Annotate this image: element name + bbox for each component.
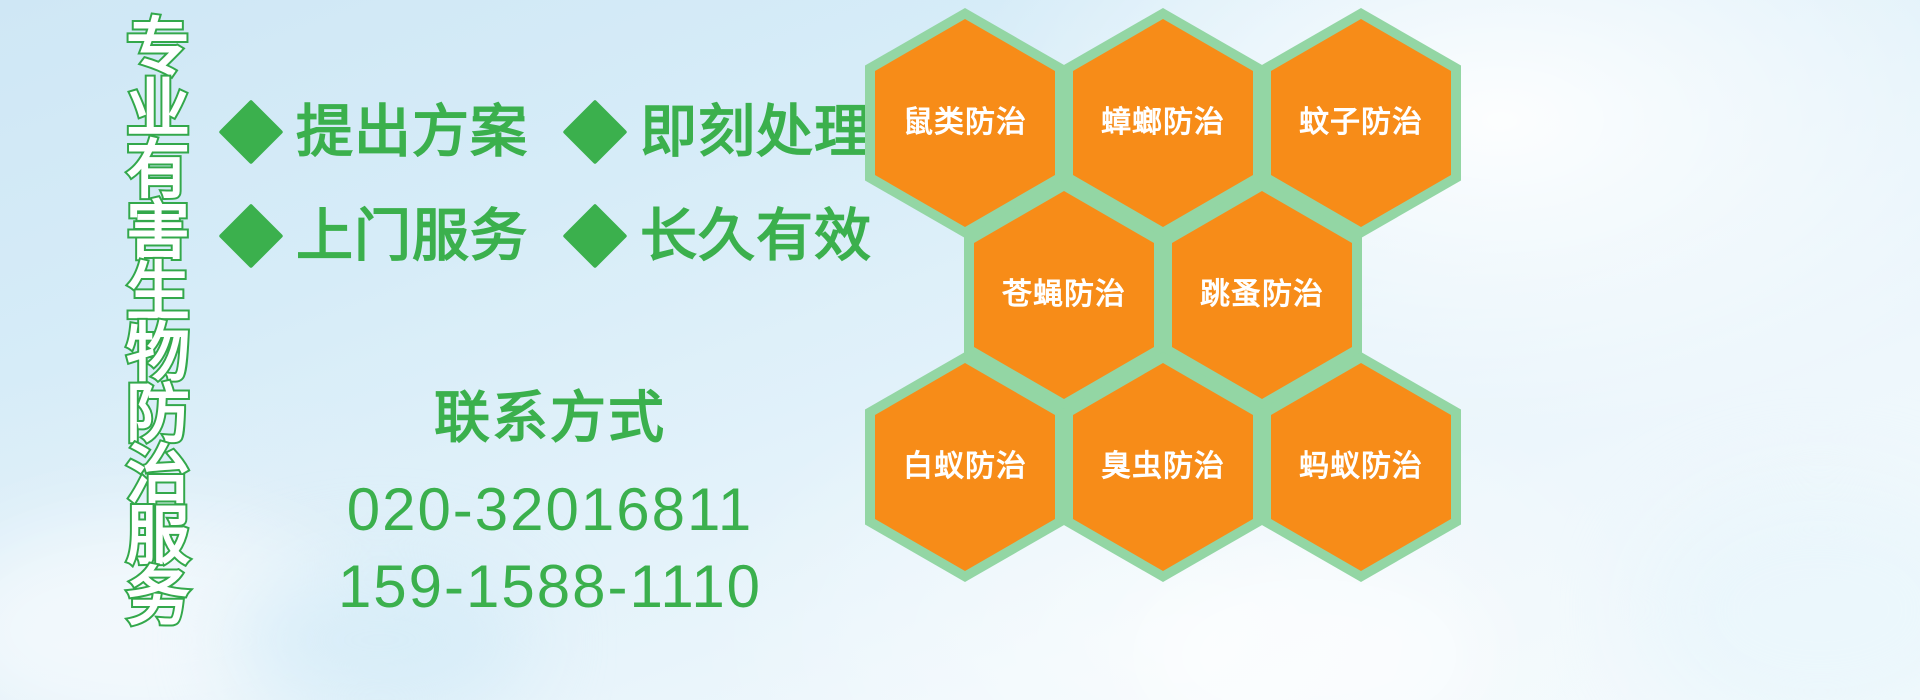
contact-block: 联系方式 020-32016811 159-1588-1110 [200,390,900,626]
feature-item: 长久有效 [572,208,872,265]
feature-item: 即刻处理 [572,104,872,161]
feature-label: 上门服务 [296,208,528,265]
headline-char: 防 [126,384,190,445]
headline-char: 治 [126,445,190,506]
phone-number-mobile[interactable]: 159-1588-1110 [200,549,900,626]
service-label: 臭虫防治 [1101,452,1225,482]
feature-row: 上门服务 长久有效 [228,184,868,288]
service-hexagon-termite[interactable]: 白蚁防治 [865,352,1065,582]
service-hexagon-ant[interactable]: 蚂蚁防治 [1261,352,1461,582]
promo-banner: 专 业 有 害 生 物 防 治 服 务 提出方案 即刻处理 上门服务 [0,0,1920,700]
diamond-bullet-icon [218,99,283,164]
feature-row: 提出方案 即刻处理 [228,80,868,184]
feature-label: 提出方案 [296,104,528,161]
feature-label: 即刻处理 [640,104,872,161]
phone-number-landline[interactable]: 020-32016811 [200,472,900,549]
service-label: 蚂蚁防治 [1299,452,1423,482]
diamond-bullet-icon [562,99,627,164]
diamond-bullet-icon [218,203,283,268]
service-label: 跳蚤防治 [1200,280,1324,310]
service-label: 白蚁防治 [903,452,1027,482]
feature-item: 提出方案 [228,104,528,161]
headline-char: 物 [126,323,190,384]
headline-char: 有 [126,140,190,201]
headline-char: 害 [126,201,190,262]
headline-char: 服 [126,506,190,567]
feature-list: 提出方案 即刻处理 上门服务 长久有效 [228,80,868,288]
service-label: 蟑螂防治 [1101,108,1225,138]
headline-char: 务 [126,567,190,628]
diamond-bullet-icon [562,203,627,268]
vertical-headline: 专 业 有 害 生 物 防 治 服 务 [110,18,206,578]
background-blob [1640,480,1920,700]
headline-char: 业 [126,79,190,140]
service-hexagon-bedbug[interactable]: 臭虫防治 [1063,352,1263,582]
service-label: 鼠类防治 [903,108,1027,138]
service-label: 蚊子防治 [1299,108,1423,138]
headline-char: 专 [126,18,190,79]
service-label: 苍蝇防治 [1002,280,1126,310]
contact-title: 联系方式 [200,390,900,446]
headline-char: 生 [126,262,190,323]
feature-item: 上门服务 [228,208,528,265]
service-hexagon-grid: 鼠类防治 蟑螂防治 蚊子防治 苍蝇防治 跳蚤防治 [845,0,1485,700]
feature-label: 长久有效 [640,208,872,265]
